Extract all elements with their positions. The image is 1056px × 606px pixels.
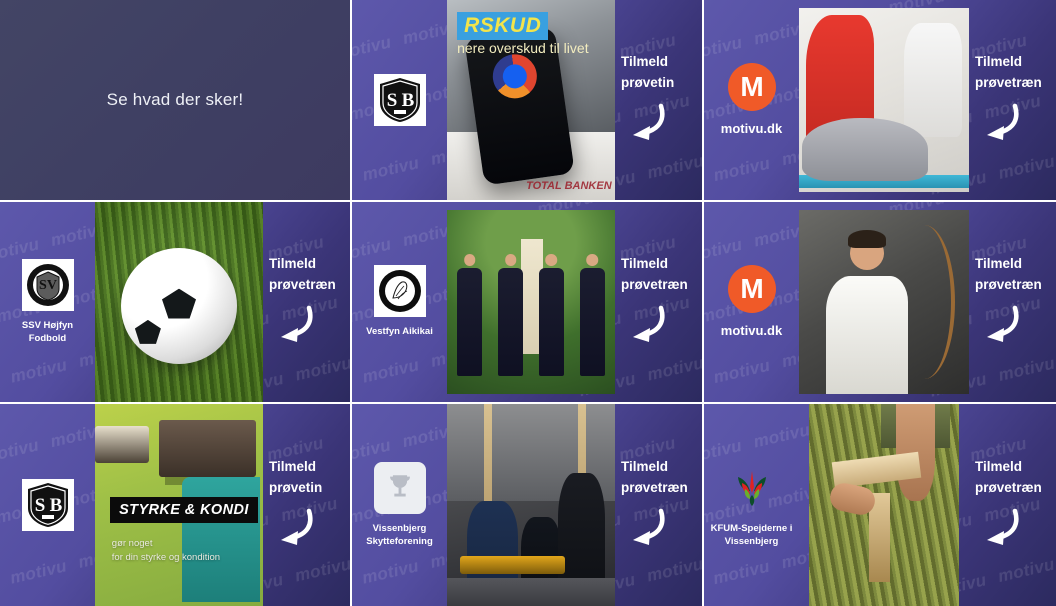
brand-name-line-1: SSV Højfyn — [22, 320, 73, 333]
svg-text:SV: SV — [39, 278, 57, 293]
photo-scouts-lashing — [809, 404, 959, 606]
svg-text:S: S — [34, 495, 45, 516]
brand-column: Vestfyn Aikikai — [352, 202, 447, 402]
photo-phone-on-machine: RSKUD nere overskud til livet TOTAL BANK… — [447, 0, 615, 200]
brand-name: Vissenbjerg Skytteforening — [366, 523, 433, 549]
cta-column[interactable]: Tilmeld prøvetræn — [615, 202, 702, 402]
ad-card-motivu-yoga[interactable]: motivumotivumotivumotivumotivumotivu mot… — [704, 0, 1056, 200]
motivu-circle-logo: M — [728, 63, 776, 111]
cta-line-2: prøvetræn — [975, 479, 1042, 497]
photo-kyudo-archer — [799, 210, 969, 394]
cta-column[interactable]: Tilmeld prøvetræn — [969, 404, 1056, 606]
media-column: STYRKE & KONDI gør noget for din styrke … — [95, 404, 263, 606]
brand-column: M motivu.dk — [704, 0, 799, 200]
cta-line-2: prøvetin — [621, 74, 674, 92]
cta-line-2: prøvetræn — [621, 276, 688, 294]
intro-text: Se hvad der sker! — [107, 90, 244, 110]
trophy-placeholder-logo — [374, 462, 426, 514]
media-column — [799, 404, 969, 606]
photo-shooting-range — [447, 404, 615, 606]
brand-column: KFUM-Spejderne i Vissenbjerg — [704, 404, 799, 606]
ad-card-vissenbjerg-skytte[interactable]: motivumotivumotivumotivumotivumotivu mot… — [352, 404, 702, 606]
photo-caption-band: STYRKE & KONDI — [110, 497, 258, 523]
cta-column[interactable]: Tilmeld prøvetræn — [969, 0, 1056, 200]
media-column — [799, 202, 969, 402]
curved-arrow-icon — [625, 102, 669, 147]
brand-name-line-1: Vissenbjerg — [366, 523, 433, 536]
ad-card-ssv-hojfyn[interactable]: motivumotivumotivumotivumotivumotivu mot… — [0, 202, 350, 402]
trophy-icon — [383, 471, 417, 505]
cta-line-2: prøvetræn — [975, 276, 1042, 294]
football-object — [121, 248, 237, 364]
brand-column: Vissenbjerg Skytteforening — [352, 404, 447, 606]
brand-name-line-2: Fodbold — [22, 333, 73, 346]
media-column: RSKUD nere overskud til livet TOTAL BANK… — [447, 0, 615, 200]
brand-column: SV SSV Højfyn Fodbold — [0, 202, 95, 402]
svg-text:B: B — [401, 90, 414, 111]
cta-line-1: Tilmeld — [621, 458, 668, 476]
curved-arrow-icon — [625, 304, 669, 349]
motivu-m-glyph: M — [740, 275, 762, 303]
photo-yoga-meditation — [799, 8, 969, 192]
fleur-de-lis-icon — [728, 465, 776, 511]
sb-shield-icon: S B — [379, 77, 421, 123]
cta-line-2: prøvetræn — [269, 276, 336, 294]
cta-column[interactable]: Tilmeld prøvetræn — [615, 404, 702, 606]
brand-name-line-1: KFUM-Spejderne i — [711, 523, 793, 536]
photo-subtext-line-2: for din styrke og kondition — [112, 551, 220, 565]
media-column — [447, 202, 615, 402]
photo-bank-label: TOTAL BANKEN — [526, 180, 612, 192]
cta-column[interactable]: Tilmeld prøvetræn — [263, 202, 350, 402]
cta-line-2: prøvetin — [269, 479, 322, 497]
brand-name: motivu.dk — [721, 322, 782, 340]
aikikai-badge-logo — [374, 265, 426, 317]
sb-shield-icon: S B — [27, 482, 69, 528]
ssv-crest-icon: SV — [25, 262, 71, 308]
cta-column[interactable]: Tilmeld prøvetræn — [969, 202, 1056, 402]
ad-card-sb-styrke[interactable]: motivumotivumotivumotivumotivumotivu mot… — [0, 404, 350, 606]
photo-subline: nere overskud til livet — [457, 40, 589, 56]
aikikai-crest-icon — [377, 268, 423, 314]
curved-arrow-icon — [273, 507, 317, 552]
ad-card-motivu-archery[interactable]: motivumotivumotivumotivumotivumotivu mot… — [704, 202, 1056, 402]
cta-line-1: Tilmeld — [269, 458, 316, 476]
motivu-m-glyph: M — [740, 73, 762, 101]
brand-name-line-2: Vissenbjerg — [711, 536, 793, 549]
curved-arrow-icon — [625, 507, 669, 552]
media-column — [447, 404, 615, 606]
motivu-circle-logo: M — [728, 265, 776, 313]
cta-column[interactable]: Tilmeld prøvetin — [615, 0, 702, 200]
photo-headline-band: RSKUD — [457, 12, 548, 40]
photo-aikido-group — [447, 210, 615, 394]
media-column — [799, 0, 969, 200]
brand-name: SSV Højfyn Fodbold — [22, 320, 73, 346]
cta-line-1: Tilmeld — [621, 255, 668, 273]
brand-name: KFUM-Spejderne i Vissenbjerg — [711, 523, 793, 549]
photo-subtext-line-1: gør noget — [112, 537, 220, 551]
brand-name: Vestfyn Aikikai — [366, 326, 433, 339]
curved-arrow-icon — [979, 304, 1023, 349]
photo-subtext: gør noget for din styrke og kondition — [112, 537, 220, 565]
sb-shield-logo: S B — [374, 74, 426, 126]
intro-panel: Se hvad der sker! — [0, 0, 350, 200]
cta-line-1: Tilmeld — [621, 53, 668, 71]
curved-arrow-icon — [979, 102, 1023, 147]
cta-line-1: Tilmeld — [975, 458, 1022, 476]
cta-line-2: prøvetræn — [621, 479, 688, 497]
ad-card-sb-overskud[interactable]: motivumotivumotivumotivumotivumotivu mot… — [352, 0, 702, 200]
photo-football-on-grass — [95, 202, 263, 402]
brand-name: motivu.dk — [721, 120, 782, 138]
photo-gym-equipment: STYRKE & KONDI gør noget for din styrke … — [95, 404, 263, 606]
ad-card-vestfyn-aikikai[interactable]: motivumotivumotivumotivumotivumotivu mot… — [352, 202, 702, 402]
ssv-badge-logo: SV — [22, 259, 74, 311]
brand-column: M motivu.dk — [704, 202, 799, 402]
brand-column: S B — [352, 0, 447, 200]
ad-card-kfum-spejderne[interactable]: motivumotivumotivumotivumotivumotivu mot… — [704, 404, 1056, 606]
scout-fleur-logo — [726, 462, 778, 514]
brand-column: S B — [0, 404, 95, 606]
cta-line-2: prøvetræn — [975, 74, 1042, 92]
cta-line-1: Tilmeld — [975, 53, 1022, 71]
sb-shield-logo: S B — [22, 479, 74, 531]
curved-arrow-icon — [979, 507, 1023, 552]
curved-arrow-icon — [273, 304, 317, 349]
cta-line-1: Tilmeld — [269, 255, 316, 273]
brand-name-line-2: Skytteforening — [366, 536, 433, 549]
media-column — [95, 202, 263, 402]
svg-text:B: B — [49, 495, 62, 516]
svg-text:S: S — [386, 90, 397, 111]
cta-line-1: Tilmeld — [975, 255, 1022, 273]
ad-grid: Se hvad der sker! motivumotivumotivumoti… — [0, 0, 1056, 606]
cta-column[interactable]: Tilmeld prøvetin — [263, 404, 350, 606]
